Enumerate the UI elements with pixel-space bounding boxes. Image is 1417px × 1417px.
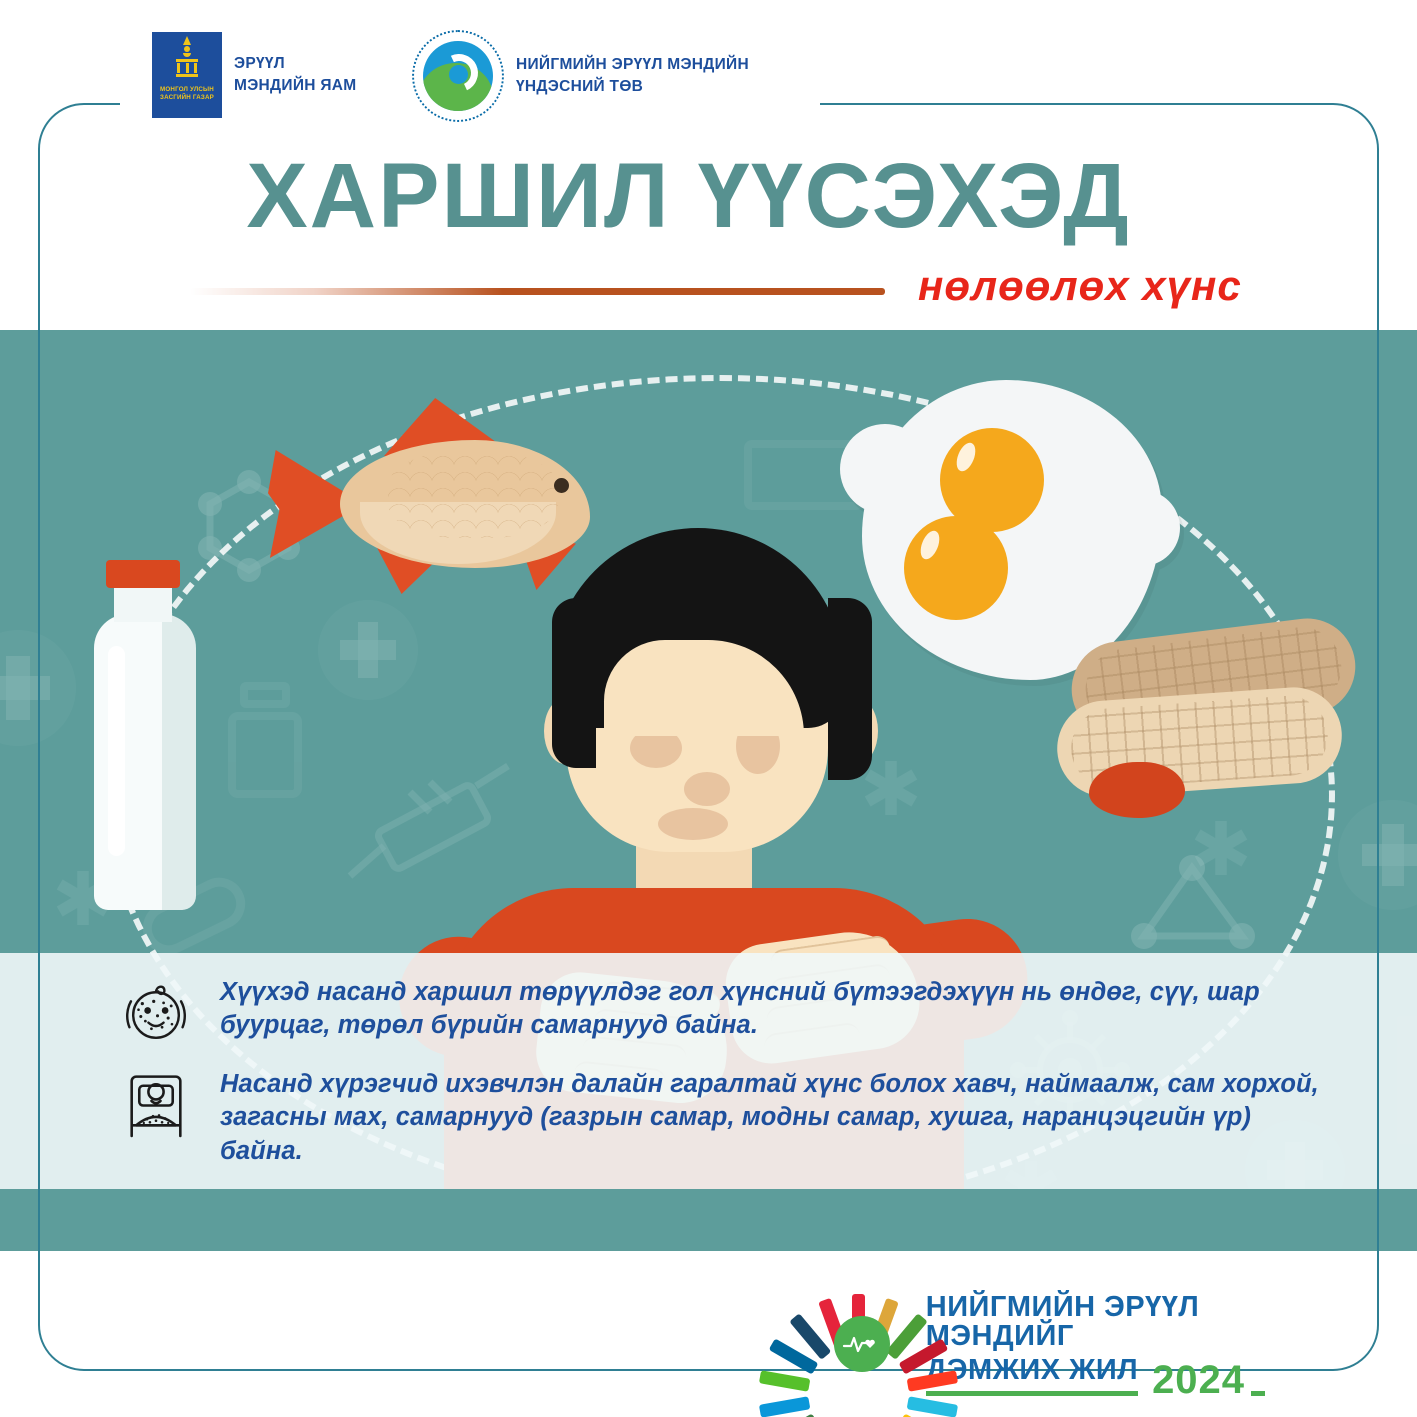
- title-divider-rule: [190, 288, 885, 295]
- peanuts-illustration: [1057, 630, 1387, 820]
- page-subtitle: нөлөөлөх хүнс: [918, 262, 1242, 310]
- panel-text-2: Насанд хүрэгчид ихэвчлэн далайн гаралтай…: [220, 1066, 1337, 1167]
- campaign-footer-logo: НИЙГМИЙН ЭРҮҮЛ МЭНДИЙГ ДЭМЖИХ ЖИЛ 2024: [810, 1288, 1330, 1400]
- patient-in-bed-icon: [118, 1066, 194, 1142]
- national-center-public-health-logo: НИЙГМИЙН ЭРҮҮЛ МЭНДИЙН ҮНДЭСНИЙ ТӨВ: [412, 30, 749, 122]
- ncph-caption: НИЙГМИЙН ЭРҮҮЛ МЭНДИЙН ҮНДЭСНИЙ ТӨВ: [516, 54, 749, 99]
- ministry-of-health-logo: МОНГОЛ УЛСЫН ЗАСГИЙН ГАЗАР ЭРҮҮЛ МЭНДИЙН…: [152, 32, 357, 118]
- molecule-triangle-icon: [1130, 850, 1260, 960]
- baby-rash-icon: [118, 974, 194, 1050]
- footer-line-1: НИЙГМИЙН ЭРҮҮЛ МЭНДИЙГ: [926, 1293, 1330, 1351]
- gov-emblem-text: МОНГОЛ УЛСЫН ЗАСГИЙН ГАЗАР: [152, 86, 222, 103]
- list-item: Насанд хүрэгчид ихэвчлэн далайн гаралтай…: [118, 1066, 1337, 1167]
- sdg-center-heartbeat: [834, 1316, 890, 1372]
- infographic-poster: МОНГОЛ УЛСЫН ЗАСГИЙН ГАЗАР ЭРҮҮЛ МЭНДИЙН…: [0, 0, 1417, 1417]
- list-item: Хүүхэд насанд харшил төрүүлдэг гол хүнсн…: [118, 974, 1337, 1050]
- ncph-emblem-icon: [412, 30, 504, 122]
- footer-text-block: НИЙГМИЙН ЭРҮҮЛ МЭНДИЙГ ДЭМЖИХ ЖИЛ 2024: [926, 1293, 1330, 1396]
- medical-cross-icon: [0, 630, 76, 746]
- info-text-panel: Хүүхэд насанд харшил төрүүлдэг гол хүнсн…: [0, 953, 1417, 1189]
- medicine-jar-icon: [228, 682, 302, 798]
- panel-text-1: Хүүхэд насанд харшил төрүүлдэг гол хүнсн…: [220, 974, 1337, 1042]
- subtitle-row: нөлөөлөх хүнс: [0, 262, 1417, 314]
- milk-bottle-illustration: [92, 560, 196, 910]
- bottom-teal-band: [0, 1189, 1417, 1251]
- title-block: ХАРШИЛ ҮҮСЭХЭД нөлөөлөх хүнс: [0, 150, 1417, 314]
- footer-year: 2024: [1152, 1360, 1245, 1400]
- mongolia-government-emblem-icon: МОНГОЛ УЛСЫН ЗАСГИЙН ГАЗАР: [152, 32, 222, 118]
- footer-line-2: ДЭМЖИХ ЖИЛ: [926, 1356, 1138, 1396]
- sdg-wheel-heartbeat-icon: [810, 1292, 908, 1396]
- page-title: ХАРШИЛ ҮҮСЭХЭД: [0, 150, 1417, 242]
- header-logos: МОНГОЛ УЛСЫН ЗАСГИЙН ГАЗАР ЭРҮҮЛ МЭНДИЙН…: [0, 0, 1417, 150]
- soyombo-icon: [176, 36, 198, 82]
- ministry-caption: ЭРҮҮЛ МЭНДИЙН ЯАМ: [234, 53, 357, 98]
